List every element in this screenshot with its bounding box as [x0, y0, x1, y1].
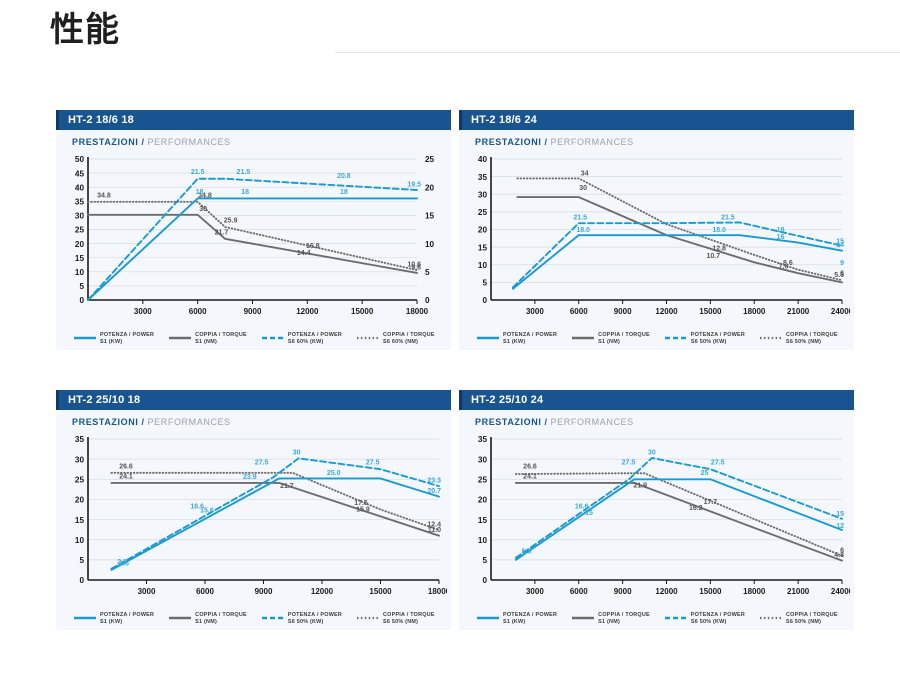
chart-body: PRESTAZIONI/PERFORMANCES0510152025303540… — [56, 130, 451, 350]
subtitle-en: PERFORMANCES — [148, 417, 231, 427]
subtitle-separator: / — [544, 137, 547, 147]
subtitle-it: PRESTAZIONI — [475, 137, 541, 147]
chart-svg: 0510152025303540300060009000120001500018… — [465, 151, 850, 326]
legend-label-line2: S1 (NM) — [598, 339, 650, 346]
chart-subtitle: PRESTAZIONI/PERFORMANCES — [72, 137, 447, 147]
y-tick-label: 35 — [75, 198, 85, 207]
chart-title: HT-2 25/10 24 — [471, 394, 543, 406]
data-label: 27.5 — [622, 460, 636, 467]
chart-card-ht-2-25-10-18: HT-2 25/10 18PRESTAZIONI/PERFORMANCES051… — [56, 390, 451, 630]
y-tick-label: 5 — [482, 556, 487, 565]
legend-item-power-s6: POTENZA / POWERS6 50% (KW) — [665, 332, 745, 346]
legend-item-power-s1: POTENZA / POWERS1 (KW) — [74, 332, 154, 346]
y-tick-label: 20 — [75, 240, 85, 249]
data-label: 20.7 — [427, 488, 441, 495]
legend-swatch-solid-icon — [572, 335, 594, 345]
data-label: 25.0 — [327, 470, 341, 477]
legend-item-power-s6: POTENZA / POWERS6 60% (KW) — [262, 332, 342, 346]
x-tick-label: 12000 — [296, 307, 319, 316]
legend-label-line1: POTENZA / POWER — [288, 332, 342, 339]
legend-label-line2: S6 50% (KW) — [691, 619, 745, 626]
series-line — [111, 483, 439, 536]
y-tick-label: 25 — [478, 475, 488, 484]
chart-card-ht-2-25-10-24: HT-2 25/10 24PRESTAZIONI/PERFORMANCES051… — [459, 390, 854, 630]
y-axis-left: 05101520253035404550 — [75, 155, 88, 305]
data-label: 20.8 — [337, 173, 351, 180]
data-label: 19.5 — [407, 182, 421, 189]
x-tick-label: 9000 — [244, 307, 262, 316]
chart-body: PRESTAZIONI/PERFORMANCES0510152025303530… — [459, 410, 854, 630]
legend-item-power-s1: POTENZA / POWERS1 (KW) — [477, 332, 557, 346]
y-tick-label: 30 — [478, 190, 488, 199]
y2-tick-label: 0 — [425, 296, 430, 305]
y-tick-label: 15 — [478, 243, 488, 252]
x-tick-label: 6000 — [189, 307, 207, 316]
data-label: 12.8 — [712, 245, 726, 252]
legend-label: COPPIA / TORQUES6 50% (NM) — [786, 612, 838, 626]
series-line — [88, 198, 417, 300]
y-tick-label: 20 — [478, 496, 488, 505]
data-label: 12 — [836, 523, 844, 530]
y-tick-label: 0 — [482, 576, 487, 585]
chart-legend: POTENZA / POWERS1 (KW)COPPIA / TORQUES1 … — [477, 332, 850, 346]
y2-tick-label: 20 — [425, 183, 435, 192]
data-label: 21.9 — [633, 482, 647, 489]
legend-swatch-solid-icon — [477, 615, 499, 625]
data-label: 15.9 — [356, 506, 370, 513]
x-tick-label: 24000 — [831, 307, 850, 316]
legend-label: COPPIA / TORQUES1 (NM) — [195, 612, 247, 626]
y-tick-label: 40 — [478, 155, 488, 164]
data-label: 34.8 — [97, 192, 111, 199]
data-label: 11.0 — [428, 527, 441, 534]
data-label: 24.1 — [523, 473, 537, 480]
legend-label-line2: S6 50% (NM) — [786, 619, 838, 626]
legend-label-line1: COPPIA / TORQUE — [786, 612, 838, 619]
subtitle-en: PERFORMANCES — [551, 137, 634, 147]
chart-title-bar: HT-2 25/10 18 — [56, 390, 451, 410]
legend-item-torque-s6: COPPIA / TORQUES6 50% (NM) — [357, 612, 435, 626]
data-label: 21.5 — [191, 169, 205, 176]
data-label: 21.5 — [237, 169, 251, 176]
data-label: 18.0 — [576, 227, 590, 234]
legend-swatch-solid-icon — [74, 335, 96, 345]
data-label: 30 — [648, 450, 656, 457]
legend-label-line2: S6 50% (KW) — [288, 619, 342, 626]
x-axis: 300060009000120001500018000 — [88, 300, 429, 316]
y-tick-label: 35 — [478, 173, 488, 182]
legend-swatch-dotted-icon — [760, 335, 782, 345]
legend-swatch-dotted-icon — [357, 615, 379, 625]
chart-body: PRESTAZIONI/PERFORMANCES0510152025303540… — [459, 130, 854, 350]
x-tick-label: 6000 — [570, 307, 588, 316]
legend-label: COPPIA / TORQUES1 (NM) — [598, 612, 650, 626]
subtitle-it: PRESTAZIONI — [72, 417, 138, 427]
legend-swatch-dotted-icon — [760, 615, 782, 625]
legend-label-line1: COPPIA / TORQUE — [598, 612, 650, 619]
data-label: 15.6 — [200, 508, 214, 515]
x-axis: 3000600090001200015000180002100024000 — [491, 580, 850, 596]
x-axis: 300060009000120001500018000 — [88, 580, 447, 596]
data-label: 25.9 — [224, 217, 238, 224]
data-label: 9.6 — [411, 264, 421, 271]
legend-swatch-dashed-icon — [262, 615, 284, 625]
gridlines — [88, 439, 439, 560]
legend-swatch-solid-icon — [477, 335, 499, 345]
x-tick-label: 24000 — [831, 587, 850, 596]
legend-label-line2: S6 60% (NM) — [383, 339, 435, 346]
series-line — [516, 483, 842, 561]
y-tick-label: 25 — [75, 226, 85, 235]
legend-label-line1: POTENZA / POWER — [503, 332, 557, 339]
y-tick-label: 50 — [75, 155, 85, 164]
legend-label: POTENZA / POWERS6 50% (KW) — [691, 332, 745, 346]
subtitle-en: PERFORMANCES — [148, 137, 231, 147]
series-line — [111, 458, 439, 568]
x-tick-label: 12000 — [655, 307, 678, 316]
x-tick-label: 18000 — [406, 307, 429, 316]
plot-area: 0510152025303530006000900012000150001800… — [465, 431, 850, 606]
legend-label-line2: S1 (NM) — [195, 619, 247, 626]
legend-item-torque-s1: COPPIA / TORQUES1 (NM) — [572, 612, 650, 626]
legend-label: COPPIA / TORQUES1 (NM) — [598, 332, 650, 346]
y-tick-label: 30 — [75, 455, 85, 464]
x-tick-label: 15000 — [699, 307, 722, 316]
y2-tick-label: 15 — [425, 212, 435, 221]
legend-item-torque-s1: COPPIA / TORQUES1 (NM) — [572, 332, 650, 346]
y-tick-label: 35 — [478, 435, 488, 444]
legend-label: POTENZA / POWERS6 50% (KW) — [288, 612, 342, 626]
x-tick-label: 12000 — [655, 587, 678, 596]
legend-label-line2: S1 (KW) — [100, 339, 154, 346]
y-tick-label: 10 — [478, 261, 488, 270]
legend-item-power-s6: POTENZA / POWERS6 50% (KW) — [665, 612, 745, 626]
x-tick-label: 3000 — [526, 307, 544, 316]
data-label: 18.0 — [712, 227, 726, 234]
page-title-area: 性能 — [50, 8, 860, 58]
chart-subtitle: PRESTAZIONI/PERFORMANCES — [475, 137, 850, 147]
legend-swatch-dotted-icon — [357, 335, 379, 345]
legend-item-power-s6: POTENZA / POWERS6 50% (KW) — [262, 612, 342, 626]
x-tick-label: 3000 — [526, 587, 544, 596]
x-tick-label: 9000 — [255, 587, 273, 596]
x-tick-label: 15000 — [699, 587, 722, 596]
x-tick-label: 21000 — [787, 307, 810, 316]
x-tick-label: 15000 — [351, 307, 374, 316]
legend-label-line1: POTENZA / POWER — [691, 612, 745, 619]
y-tick-label: 10 — [478, 536, 488, 545]
data-label: 7.6 — [779, 264, 789, 271]
data-label: 17.7 — [704, 499, 718, 506]
y-tick-label: 10 — [75, 268, 85, 277]
x-tick-label: 18000 — [743, 587, 766, 596]
data-label: 30 — [579, 185, 587, 192]
chart-title: HT-2 25/10 18 — [68, 394, 140, 406]
x-tick-label: 12000 — [311, 587, 334, 596]
chart-title-bar: HT-2 25/10 24 — [459, 390, 854, 410]
y-tick-label: 35 — [75, 435, 85, 444]
legend-label-line2: S6 50% (NM) — [383, 619, 435, 626]
x-tick-label: 3000 — [138, 587, 156, 596]
legend-label-line1: COPPIA / TORQUE — [383, 612, 435, 619]
y-tick-label: 30 — [478, 455, 488, 464]
data-label: 21.7 — [280, 483, 294, 490]
series-line — [88, 179, 417, 300]
data-label: 34 — [581, 171, 589, 178]
legend-item-torque-s6: COPPIA / TORQUES6 50% (NM) — [760, 612, 838, 626]
legend-item-power-s1: POTENZA / POWERS1 (KW) — [477, 612, 557, 626]
legend-label: COPPIA / TORQUES6 50% (NM) — [786, 332, 838, 346]
legend-label: POTENZA / POWERS1 (KW) — [503, 332, 557, 346]
chart-svg: 0510152025303530006000900012000150001800… — [465, 431, 850, 606]
y-axis-left: 05101520253035 — [75, 435, 88, 585]
legend-label-line1: POTENZA / POWER — [288, 612, 342, 619]
legend-label-line1: POTENZA / POWER — [691, 332, 745, 339]
series-line — [513, 222, 842, 287]
x-tick-label: 3000 — [134, 307, 152, 316]
chart-title: HT-2 18/6 18 — [68, 114, 134, 126]
legend-label-line2: S6 50% (NM) — [786, 339, 838, 346]
series-line — [88, 202, 417, 270]
legend-swatch-dashed-icon — [665, 335, 687, 345]
data-label: 15 — [585, 510, 593, 517]
y-axis-left: 05101520253035 — [478, 435, 491, 585]
chart-legend: POTENZA / POWERS1 (KW)COPPIA / TORQUES1 … — [74, 332, 447, 346]
y-tick-label: 0 — [79, 576, 84, 585]
data-label: 24.1 — [119, 473, 133, 480]
legend-label: POTENZA / POWERS6 60% (KW) — [288, 332, 342, 346]
data-label: 27.5 — [711, 460, 725, 467]
data-label: 14.4 — [297, 250, 311, 257]
data-label: 4.8 — [834, 552, 844, 559]
y-tick-label: 20 — [75, 496, 85, 505]
legend-label-line2: S1 (KW) — [100, 619, 154, 626]
legend-label-line1: COPPIA / TORQUE — [383, 332, 435, 339]
subtitle-separator: / — [141, 137, 144, 147]
y-tick-label: 5 — [482, 279, 487, 288]
legend-item-torque-s1: COPPIA / TORQUES1 (NM) — [169, 612, 247, 626]
y-tick-label: 15 — [75, 254, 85, 263]
chart-legend: POTENZA / POWERS1 (KW)COPPIA / TORQUES1 … — [74, 612, 447, 626]
y-tick-label: 0 — [482, 296, 487, 305]
legend-label-line1: COPPIA / TORQUE — [598, 332, 650, 339]
y2-tick-label: 10 — [425, 240, 435, 249]
subtitle-en: PERFORMANCES — [551, 417, 634, 427]
chart-subtitle: PRESTAZIONI/PERFORMANCES — [475, 417, 850, 427]
x-tick-label: 18000 — [428, 587, 447, 596]
subtitle-it: PRESTAZIONI — [475, 417, 541, 427]
legend-label-line2: S1 (NM) — [598, 619, 650, 626]
chart-card-ht-2-18-6-18: HT-2 18/6 18PRESTAZIONI/PERFORMANCES0510… — [56, 110, 451, 350]
legend-label: COPPIA / TORQUES1 (NM) — [195, 332, 247, 346]
x-tick-label: 15000 — [369, 587, 392, 596]
data-label: 21.7 — [215, 229, 229, 236]
legend-label-line2: S1 (NM) — [195, 339, 247, 346]
legend-item-torque-s1: COPPIA / TORQUES1 (NM) — [169, 332, 247, 346]
data-label: 6 — [840, 270, 844, 277]
data-label: 18 — [241, 189, 249, 196]
legend-label-line1: POTENZA / POWER — [503, 612, 557, 619]
legend-label: COPPIA / TORQUES6 50% (NM) — [383, 612, 435, 626]
page-title: 性能 — [50, 8, 120, 52]
legend-item-torque-s6: COPPIA / TORQUES6 60% (NM) — [357, 332, 435, 346]
data-label: 14 — [836, 242, 844, 249]
y-tick-label: 45 — [75, 169, 85, 178]
data-label: 10.7 — [706, 253, 720, 260]
series-line — [111, 478, 439, 569]
gridlines — [88, 159, 417, 286]
subtitle-it: PRESTAZIONI — [72, 137, 138, 147]
chart-subtitle: PRESTAZIONI/PERFORMANCES — [72, 417, 447, 427]
data-label: 27.5 — [366, 460, 380, 467]
legend-label-line1: POTENZA / POWER — [100, 332, 154, 339]
legend-label: POTENZA / POWERS1 (KW) — [503, 612, 557, 626]
chart-body: PRESTAZIONI/PERFORMANCES0510152025303530… — [56, 410, 451, 630]
title-divider — [335, 52, 900, 53]
subtitle-separator: / — [544, 417, 547, 427]
plot-area: 0510152025303540300060009000120001500018… — [465, 151, 850, 326]
series-line — [517, 197, 842, 282]
chart-svg: 0510152025303540455005101520253000600090… — [62, 151, 447, 326]
chart-title-bar: HT-2 18/6 24 — [459, 110, 854, 130]
y2-tick-label: 25 — [425, 155, 435, 164]
data-label: 15 — [836, 511, 844, 518]
y-tick-label: 40 — [75, 183, 85, 192]
data-label: 27.5 — [255, 460, 269, 467]
data-label: 25 — [701, 470, 709, 477]
legend-label: POTENZA / POWERS1 (KW) — [100, 332, 154, 346]
legend-label-line2: S1 (KW) — [503, 619, 557, 626]
chart-card-ht-2-18-6-24: HT-2 18/6 24PRESTAZIONI/PERFORMANCES0510… — [459, 110, 854, 350]
legend-swatch-solid-icon — [169, 615, 191, 625]
y-tick-label: 15 — [75, 516, 85, 525]
legend-label: POTENZA / POWERS1 (KW) — [100, 612, 154, 626]
legend-label-line1: POTENZA / POWER — [100, 612, 154, 619]
data-label: 30 — [293, 450, 301, 457]
y-tick-label: 10 — [75, 536, 85, 545]
y-axis-right: 0510152025 — [425, 155, 435, 305]
chart-title: HT-2 18/6 24 — [471, 114, 537, 126]
y-tick-label: 30 — [75, 212, 85, 221]
data-label: 16 — [777, 234, 785, 241]
legend-swatch-solid-icon — [74, 615, 96, 625]
y-axis-left: 0510152025303540 — [478, 155, 491, 305]
y-tick-label: 25 — [75, 475, 85, 484]
data-label: 9 — [840, 260, 844, 267]
y-tick-label: 5 — [79, 282, 84, 291]
data-label: 18 — [340, 189, 348, 196]
chart-svg: 0510152025303530006000900012000150001800… — [62, 431, 447, 606]
y2-tick-label: 5 — [425, 268, 430, 277]
data-label: 23.9 — [243, 474, 257, 481]
y-tick-label: 15 — [478, 516, 488, 525]
legend-label-line2: S6 50% (KW) — [691, 339, 745, 346]
legend-label: POTENZA / POWERS6 50% (KW) — [691, 612, 745, 626]
plot-area: 0510152025303540455005101520253000600090… — [62, 151, 447, 326]
x-tick-label: 9000 — [614, 587, 632, 596]
data-label: 18 — [196, 189, 204, 196]
data-label: 21.5 — [573, 215, 587, 222]
chart-title-bar: HT-2 18/6 18 — [56, 110, 451, 130]
data-label: 18 — [777, 227, 785, 234]
series-line — [516, 473, 842, 556]
legend-swatch-solid-icon — [572, 615, 594, 625]
legend-label-line2: S6 60% (KW) — [288, 339, 342, 346]
data-label: 23.3 — [427, 478, 441, 485]
plot-area: 0510152025303530006000900012000150001800… — [62, 431, 447, 606]
legend-label-line1: COPPIA / TORQUE — [195, 612, 247, 619]
legend-label-line2: S1 (KW) — [503, 339, 557, 346]
legend-item-power-s1: POTENZA / POWERS1 (KW) — [74, 612, 154, 626]
legend-label-line1: COPPIA / TORQUE — [195, 332, 247, 339]
subtitle-separator: / — [141, 417, 144, 427]
data-label: 26.6 — [523, 463, 537, 470]
legend-swatch-solid-icon — [169, 335, 191, 345]
x-tick-label: 18000 — [743, 307, 766, 316]
x-tick-label: 6000 — [196, 587, 214, 596]
legend-swatch-dashed-icon — [665, 615, 687, 625]
legend-label-line1: COPPIA / TORQUE — [786, 332, 838, 339]
y-tick-label: 0 — [79, 296, 84, 305]
data-label: 16.3 — [689, 505, 703, 512]
data-label: 21.5 — [721, 215, 735, 222]
x-tick-label: 6000 — [570, 587, 588, 596]
y-tick-label: 5 — [79, 556, 84, 565]
x-tick-label: 21000 — [787, 587, 810, 596]
legend-item-torque-s6: COPPIA / TORQUES6 50% (NM) — [760, 332, 838, 346]
legend-label: COPPIA / TORQUES6 60% (NM) — [383, 332, 435, 346]
y-tick-label: 25 — [478, 208, 488, 217]
data-label: 30 — [199, 206, 207, 213]
data-label: 26.6 — [119, 463, 133, 470]
legend-swatch-dashed-icon — [262, 335, 284, 345]
y-tick-label: 20 — [478, 226, 488, 235]
data-label: 5 — [522, 550, 526, 557]
data-label: 2.5 — [119, 560, 129, 567]
performance-page: 性能 HT-2 18/6 18PRESTAZIONI/PERFORMANCES0… — [0, 0, 900, 679]
x-axis: 3000600090001200015000180002100024000 — [491, 300, 850, 316]
chart-legend: POTENZA / POWERS1 (KW)COPPIA / TORQUES1 … — [477, 612, 850, 626]
x-tick-label: 9000 — [614, 307, 632, 316]
